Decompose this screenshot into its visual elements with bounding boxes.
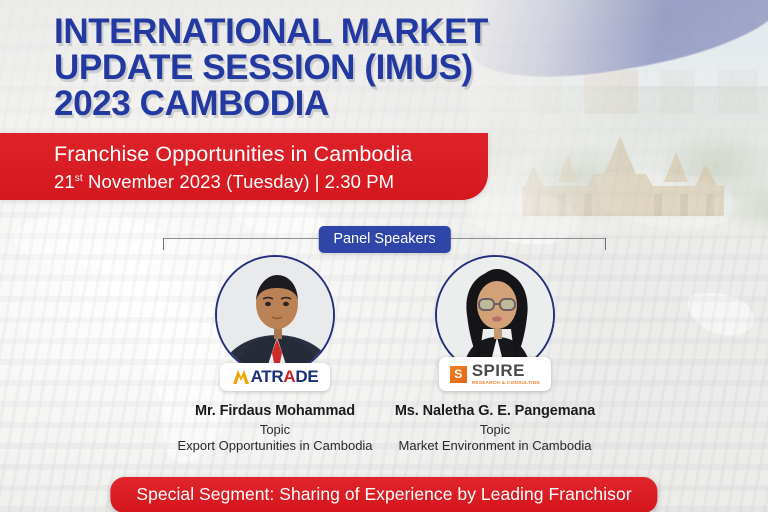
matrade-logo: ATRADE — [220, 363, 330, 391]
event-poster: INTERNATIONAL MARKET UPDATE SESSION (IMU… — [0, 0, 768, 512]
spire-logo-row: S SPIRE RESEARCH & CONSULTING — [450, 362, 540, 386]
matrade-text-de: DE — [295, 367, 318, 387]
subtitle-banner: Franchise Opportunities in Cambodia 21st… — [0, 133, 488, 200]
speaker-2-topic-label: Topic — [360, 422, 630, 437]
panel-speakers-badge: Panel Speakers — [318, 226, 450, 253]
headline-line-2: UPDATE SESSION (IMUS) — [54, 50, 614, 86]
speaker-card-2: S SPIRE RESEARCH & CONSULTING Ms. Naleth… — [360, 255, 630, 453]
speaker-1-avatar — [215, 255, 335, 375]
headline-line-1: INTERNATIONAL MARKET — [54, 14, 614, 50]
speaker-1-photo — [217, 257, 333, 373]
banner-date-ordinal: st — [75, 173, 83, 184]
banner-subtitle: Franchise Opportunities in Cambodia — [54, 142, 412, 167]
speaker-2-topic: Market Environment in Cambodia — [360, 438, 630, 453]
speaker-2-avatar-wrap: S SPIRE RESEARCH & CONSULTING — [433, 255, 557, 385]
panel-speakers-divider: Panel Speakers — [163, 232, 606, 250]
speaker-2-photo — [437, 257, 553, 373]
headline-line-3: 2023 CAMBODIA — [54, 86, 614, 122]
spire-logo: S SPIRE RESEARCH & CONSULTING — [439, 357, 551, 391]
banner-time: 2.30 PM — [325, 171, 395, 192]
matrade-text-atr: ATR — [251, 367, 284, 387]
banner-datetime: 21st November 2023 (Tuesday)|2.30 PM — [54, 171, 394, 193]
speaker-2-name: Ms. Naletha G. E. Pangemana — [360, 403, 630, 419]
banner-separator: | — [310, 171, 325, 192]
spire-logo-text: SPIRE RESEARCH & CONSULTING — [472, 362, 540, 386]
spire-tagline: RESEARCH & CONSULTING — [472, 381, 540, 386]
banner-date-rest: November 2023 (Tuesday) — [83, 171, 310, 192]
matrade-text-a-red: A — [283, 367, 295, 387]
special-segment-banner: Special Segment: Sharing of Experience b… — [110, 477, 657, 512]
banner-date-day: 21 — [54, 171, 75, 192]
matrade-logo-text: ATRADE — [232, 367, 319, 387]
divider-cap-left — [163, 238, 164, 250]
spire-mark-icon: S — [450, 366, 467, 383]
poster-headline: INTERNATIONAL MARKET UPDATE SESSION (IMU… — [54, 14, 614, 122]
divider-cap-right — [605, 238, 606, 250]
spire-name: SPIRE — [472, 362, 540, 379]
matrade-swoosh-icon — [232, 369, 250, 385]
speaker-1-avatar-wrap: ATRADE — [213, 255, 337, 385]
special-segment-text: Special Segment: Sharing of Experience b… — [136, 484, 631, 504]
